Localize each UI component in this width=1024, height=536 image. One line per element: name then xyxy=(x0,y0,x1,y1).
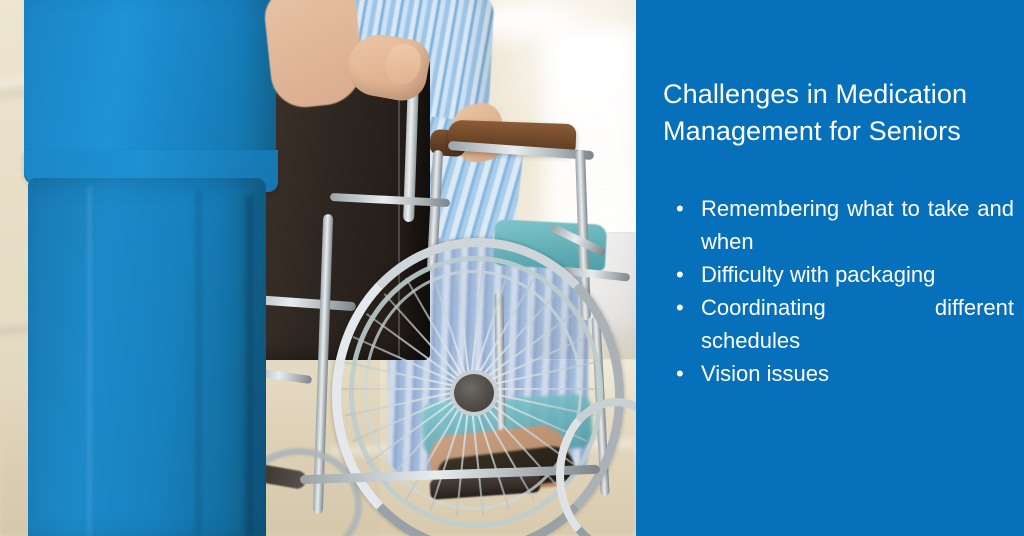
slide-title: Challenges in Medication Management for … xyxy=(663,76,1001,150)
hero-photo xyxy=(0,0,636,536)
bullet-icon: • xyxy=(676,192,684,225)
list-item-label: Difficulty with packaging xyxy=(701,262,935,287)
bullet-icon: • xyxy=(676,291,684,324)
fabric-fold xyxy=(88,186,91,536)
list-item: • Difficulty with packaging xyxy=(676,258,1014,291)
slide: Challenges in Medication Management for … xyxy=(0,0,1024,536)
list-item: • Coordinating different schedules xyxy=(676,291,1014,357)
bullet-icon: • xyxy=(676,357,684,390)
wheel-hub xyxy=(450,370,498,416)
text-panel: Challenges in Medication Management for … xyxy=(636,0,1024,536)
list-item-label: Remembering what to take and when xyxy=(701,196,1014,254)
bullet-icon: • xyxy=(676,258,684,291)
fabric-fold xyxy=(246,196,253,536)
list-item-label: Coordinating different schedules xyxy=(701,295,1014,353)
list-item: • Vision issues xyxy=(676,357,1014,390)
fabric-fold xyxy=(196,190,201,536)
list-item: • Remembering what to take and when xyxy=(676,192,1014,258)
challenges-list: • Remembering what to take and when • Di… xyxy=(676,192,1014,390)
list-item-label: Vision issues xyxy=(701,361,829,386)
caregiver-scrub-pants xyxy=(28,178,266,536)
